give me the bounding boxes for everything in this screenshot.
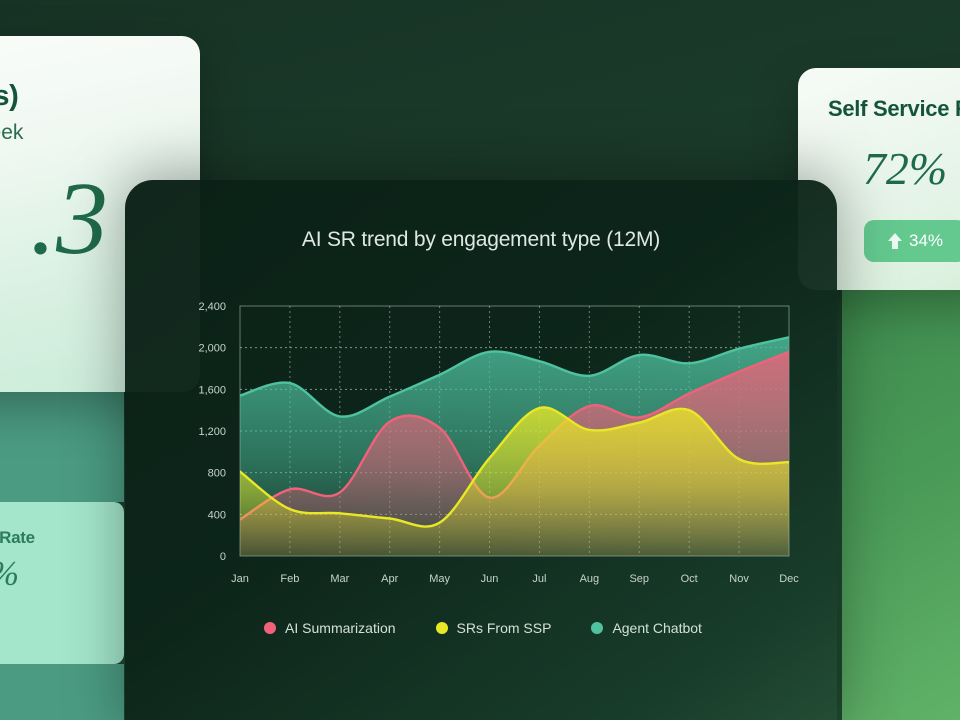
- x-axis-tick-label: Nov: [729, 573, 749, 585]
- kpi-title: Self Service Ra: [798, 68, 960, 122]
- x-axis-tick-label: Jun: [481, 573, 499, 585]
- background-panel-right: [842, 290, 960, 720]
- x-axis-tick-label: May: [429, 573, 450, 585]
- y-axis-tick-label: 800: [208, 468, 226, 480]
- kpi-title: (in days): [0, 36, 200, 113]
- x-axis-tick-label: Jul: [532, 573, 546, 585]
- kpi-subtitle: ets last week: [0, 113, 200, 145]
- legend-color-swatch-icon: [591, 622, 603, 634]
- legend-item[interactable]: SRs From SSP: [436, 620, 552, 636]
- legend-item[interactable]: AI Summarization: [264, 620, 395, 636]
- chart-title: AI SR trend by engagement type (12M): [125, 180, 837, 252]
- arrow-up-icon: [888, 233, 902, 249]
- chart-legend: AI SummarizationSRs From SSPAgent Chatbo…: [125, 620, 837, 636]
- y-axis-tick-label: 1,200: [198, 426, 226, 438]
- kpi-value: 82%: [0, 548, 124, 591]
- y-axis-tick-label: 2,000: [198, 343, 226, 355]
- x-axis-tick-label: Dec: [779, 573, 799, 585]
- kpi-trend-value: 34%: [909, 231, 943, 251]
- x-axis-tick-label: Mar: [330, 573, 349, 585]
- x-axis-tick-label: Sep: [629, 573, 649, 585]
- kpi-card-quality-rate[interactable]: Quality Rate 82% 4%: [0, 502, 124, 664]
- y-axis-tick-label: 2,400: [198, 301, 226, 313]
- legend-label: Agent Chatbot: [612, 620, 702, 636]
- chart-plot-area[interactable]: 04008001,2001,6002,0002,400JanFebMarAprM…: [125, 298, 837, 618]
- background-panel-left-upper: [0, 384, 124, 502]
- y-axis-tick-label: 400: [208, 509, 226, 521]
- x-axis-tick-label: Feb: [280, 573, 299, 585]
- x-axis-tick-label: Apr: [381, 573, 398, 585]
- chart-card[interactable]: AI SR trend by engagement type (12M) 040…: [125, 180, 837, 720]
- kpi-value: 72%: [798, 122, 960, 192]
- legend-color-swatch-icon: [264, 622, 276, 634]
- x-axis-tick-label: Jan: [231, 573, 249, 585]
- kpi-title: Quality Rate: [0, 502, 124, 548]
- x-axis-tick-label: Aug: [580, 573, 600, 585]
- y-axis-tick-label: 0: [220, 551, 226, 563]
- background-panel-left-lower: [0, 664, 124, 720]
- legend-item[interactable]: Agent Chatbot: [591, 620, 702, 636]
- y-axis-tick-label: 1,600: [198, 384, 226, 396]
- kpi-trend-badge: 34%: [864, 220, 960, 262]
- legend-color-swatch-icon: [436, 622, 448, 634]
- x-axis-tick-label: Oct: [681, 573, 698, 585]
- legend-label: AI Summarization: [285, 620, 395, 636]
- area-chart-svg[interactable]: 04008001,2001,6002,0002,400JanFebMarAprM…: [125, 298, 837, 618]
- legend-label: SRs From SSP: [457, 620, 552, 636]
